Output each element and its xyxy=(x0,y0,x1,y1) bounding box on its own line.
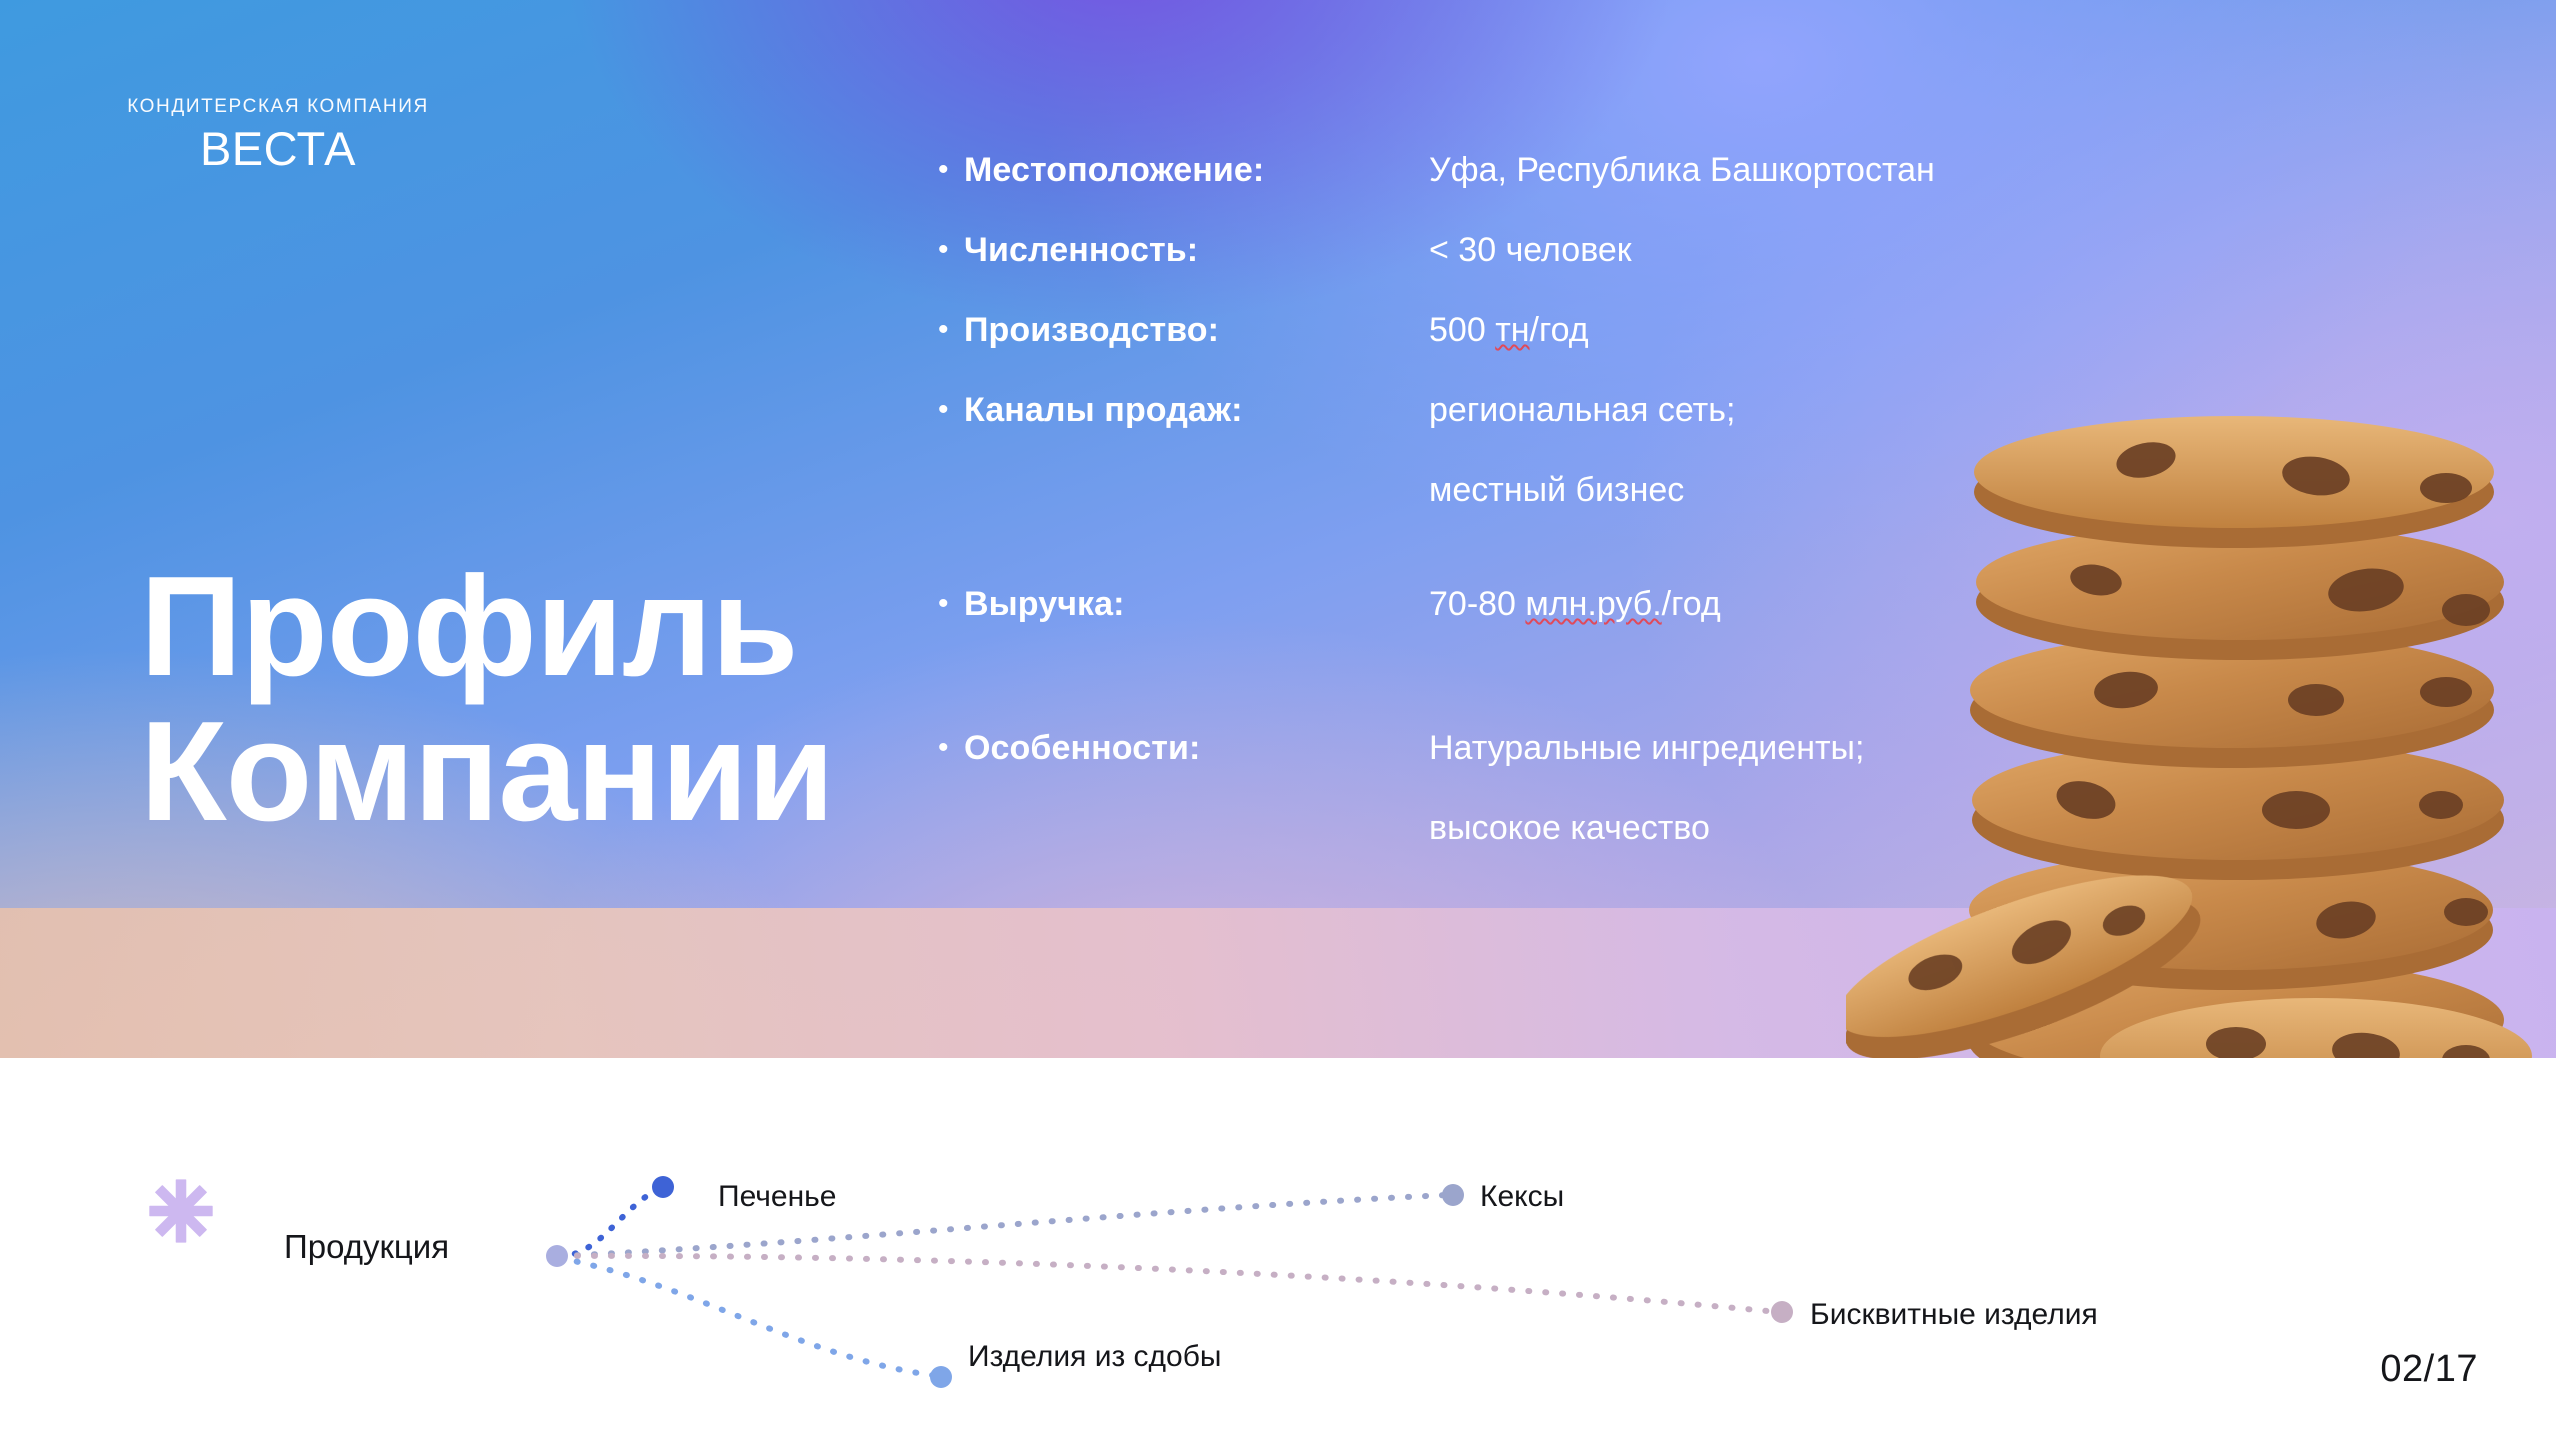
diagram-node-keksy: Кексы xyxy=(1480,1180,1564,1214)
connector-biskvitnye xyxy=(560,1256,1778,1312)
diagram-node-pechenye: Печенье xyxy=(718,1180,836,1214)
diagram-node-sdoba: Изделия из сдобы xyxy=(968,1340,1221,1374)
slide-title: Профиль Компании xyxy=(140,555,834,845)
fact-label-production: Производство: xyxy=(964,290,1429,370)
fact-row-headcount: • Численность: < 30 человек xyxy=(930,210,1935,290)
fact-label-features: Особенности: xyxy=(964,708,1429,788)
fact-value-sales-channels: региональная сеть; местный бизнес xyxy=(1429,370,1735,530)
fact-value-revenue: 70-80 млн.руб./год xyxy=(1429,564,1721,644)
fact-value-line-2: местный бизнес xyxy=(1429,450,1735,530)
fact-value-line-1: Натуральные ингредиенты; xyxy=(1429,708,1864,788)
fact-label-location: Местоположение: xyxy=(964,130,1429,210)
connector-sdoba xyxy=(560,1258,938,1376)
fact-value-production: 500 тн/год xyxy=(1429,290,1589,370)
fact-row-production: • Производство: 500 тн/год xyxy=(930,290,1935,370)
spellcheck-word: млн.руб. xyxy=(1525,585,1661,623)
fact-label-revenue: Выручка: xyxy=(964,564,1429,644)
hub-dot xyxy=(546,1245,568,1267)
bullet-icon: • xyxy=(930,290,964,370)
company-logo: КОНДИТЕРСКАЯ КОМПАНИЯ ВЕСТА xyxy=(78,96,478,172)
company-name: ВЕСТА xyxy=(78,125,478,172)
value-post: /год xyxy=(1530,311,1589,349)
fact-value-line-1: региональная сеть; xyxy=(1429,370,1735,450)
diagram-hub-label: Продукция xyxy=(284,1228,449,1266)
fact-label-headcount: Численность: xyxy=(964,210,1429,290)
fact-label-sales-channels: Каналы продаж: xyxy=(964,370,1429,450)
fact-row-location: • Местоположение: Уфа, Республика Башкор… xyxy=(930,130,1935,210)
fact-row-revenue: • Выручка: 70-80 млн.руб./год xyxy=(930,564,1935,644)
sparkle-asterisk-icon xyxy=(148,1178,214,1244)
spacer xyxy=(930,644,1935,708)
spacer xyxy=(930,530,1935,564)
node-dot-biskvitnye xyxy=(1771,1301,1793,1323)
bullet-icon: • xyxy=(930,210,964,290)
connector-pechenye xyxy=(560,1188,660,1256)
fact-value-headcount: < 30 человек xyxy=(1429,210,1632,290)
node-dot-pechenye xyxy=(652,1176,674,1198)
value-post: /год xyxy=(1662,585,1721,623)
value-pre: 70-80 xyxy=(1429,585,1525,623)
company-tagline: КОНДИТЕРСКАЯ КОМПАНИЯ xyxy=(78,96,478,118)
bullet-icon: • xyxy=(930,708,964,788)
slide-title-line-2: Компании xyxy=(140,700,834,845)
bullet-icon: • xyxy=(930,130,964,210)
node-dot-keksy xyxy=(1442,1184,1464,1206)
fact-value-location: Уфа, Республика Башкортостан xyxy=(1429,130,1935,210)
page-number: 02/17 xyxy=(2380,1348,2478,1391)
diagram-node-biskvitnye: Бисквитные изделия xyxy=(1810,1298,2098,1332)
spellcheck-word: тн xyxy=(1495,311,1529,349)
fact-row-features: • Особенности: Натуральные ингредиенты; … xyxy=(930,708,1935,868)
fact-value-line-2: высокое качество xyxy=(1429,788,1864,868)
company-facts-list: • Местоположение: Уфа, Республика Башкор… xyxy=(930,130,1935,868)
fact-row-sales-channels: • Каналы продаж: региональная сеть; мест… xyxy=(930,370,1935,530)
bullet-icon: • xyxy=(930,370,964,450)
fact-value-features: Натуральные ингредиенты; высокое качеств… xyxy=(1429,708,1864,868)
slide-title-line-1: Профиль xyxy=(140,555,834,700)
node-dot-sdoba xyxy=(930,1366,952,1388)
value-pre: 500 xyxy=(1429,311,1495,349)
bullet-icon: • xyxy=(930,564,964,644)
connector-keksy xyxy=(560,1195,1448,1256)
